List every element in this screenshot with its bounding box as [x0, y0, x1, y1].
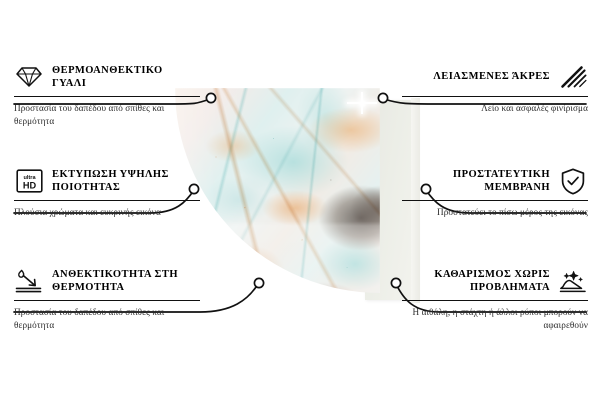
feature-divider	[402, 200, 588, 201]
flame-deflect-icon	[14, 267, 44, 295]
feature-high-quality-print: ultra HD ΕΚΤΥΠΩΣΗ ΥΨΗΛΗΣ ΠΟΙΟΤΗΤΑΣ Πλούσ…	[14, 166, 200, 219]
feature-description: Προστασία του δαπέδου από σπίθες και θερ…	[14, 102, 200, 127]
feature-divider	[14, 96, 200, 97]
feature-smooth-edges: ΛΕΙΑΣΜΕΝΕΣ ΆΚΡΕΣ Λείο και ασφαλές φινίρι…	[402, 62, 588, 115]
feature-description: Προστασία του δαπέδου από σπίθες και θερ…	[14, 306, 200, 331]
shield-check-icon	[558, 167, 588, 195]
diamond-icon	[14, 63, 44, 91]
sparkle-clean-icon	[558, 267, 588, 295]
feature-header: ΘΕΡΜΟΑΝΘΕΚΤΙΚΟ ΓΥΑΛΙ	[14, 62, 200, 92]
feature-header: ΑΝΘΕΚΤΙΚΟΤΗΤΑ ΣΤΗ ΘΕΡΜΟΤΗΤΑ	[14, 266, 200, 296]
feature-description: Πλούσια χρώματα και ευκρινής εικόνα	[14, 206, 200, 219]
polished-edge-icon	[558, 63, 588, 91]
product-image	[175, 88, 420, 323]
feature-title: ΠΡΟΣΤΑΤΕΥΤΙΚΗ ΜΕΜΒΡΑΝΗ	[402, 168, 550, 195]
feature-title: ΛΕΙΑΣΜΕΝΕΣ ΆΚΡΕΣ	[402, 70, 550, 83]
ultra-hd-icon: ultra HD	[14, 167, 44, 195]
feature-heat-resistant-glass: ΘΕΡΜΟΑΝΘΕΚΤΙΚΟ ΓΥΑΛΙ Προστασία του δαπέδ…	[14, 62, 200, 127]
feature-header: ΛΕΙΑΣΜΕΝΕΣ ΆΚΡΕΣ	[402, 62, 588, 92]
svg-text:HD: HD	[22, 180, 36, 190]
feature-title: ΚΑΘΑΡΙΣΜΟΣ ΧΩΡΙΣ ΠΡΟΒΛΗΜΑΤΑ	[402, 268, 550, 295]
feature-header: ΚΑΘΑΡΙΣΜΟΣ ΧΩΡΙΣ ΠΡΟΒΛΗΜΑΤΑ	[402, 266, 588, 296]
infographic-canvas: ΘΕΡΜΟΑΝΘΕΚΤΙΚΟ ΓΥΑΛΙ Προστασία του δαπέδ…	[0, 0, 600, 400]
feature-title: ΑΝΘΕΚΤΙΚΟΤΗΤΑ ΣΤΗ ΘΕΡΜΟΤΗΤΑ	[52, 268, 200, 295]
feature-header: ultra HD ΕΚΤΥΠΩΣΗ ΥΨΗΛΗΣ ΠΟΙΟΤΗΤΑΣ	[14, 166, 200, 196]
glass-panel	[175, 88, 380, 318]
feature-description: Η αιθάλη, η στάχτη ή άλλοι ρύποι μπορούν…	[402, 306, 588, 331]
feature-divider	[14, 200, 200, 201]
feature-divider	[14, 300, 200, 301]
feature-divider	[402, 300, 588, 301]
marble-speckles	[175, 88, 380, 318]
feature-protective-membrane: ΠΡΟΣΤΑΤΕΥΤΙΚΗ ΜΕΜΒΡΑΝΗ Προστατεύει το πί…	[402, 166, 588, 219]
feature-heat-durability: ΑΝΘΕΚΤΙΚΟΤΗΤΑ ΣΤΗ ΘΕΡΜΟΤΗΤΑ Προστασία το…	[14, 266, 200, 331]
feature-description: Προστατεύει το πίσω μέρος της εικόνας	[402, 206, 588, 219]
feature-title: ΘΕΡΜΟΑΝΘΕΚΤΙΚΟ ΓΥΑΛΙ	[52, 64, 200, 91]
feature-easy-cleaning: ΚΑΘΑΡΙΣΜΟΣ ΧΩΡΙΣ ΠΡΟΒΛΗΜΑΤΑ Η αιθάλη, η …	[402, 266, 588, 331]
feature-description: Λείο και ασφαλές φινίρισμα	[402, 102, 588, 115]
feature-divider	[402, 96, 588, 97]
feature-header: ΠΡΟΣΤΑΤΕΥΤΙΚΗ ΜΕΜΒΡΑΝΗ	[402, 166, 588, 196]
feature-title: ΕΚΤΥΠΩΣΗ ΥΨΗΛΗΣ ΠΟΙΟΤΗΤΑΣ	[52, 168, 200, 195]
